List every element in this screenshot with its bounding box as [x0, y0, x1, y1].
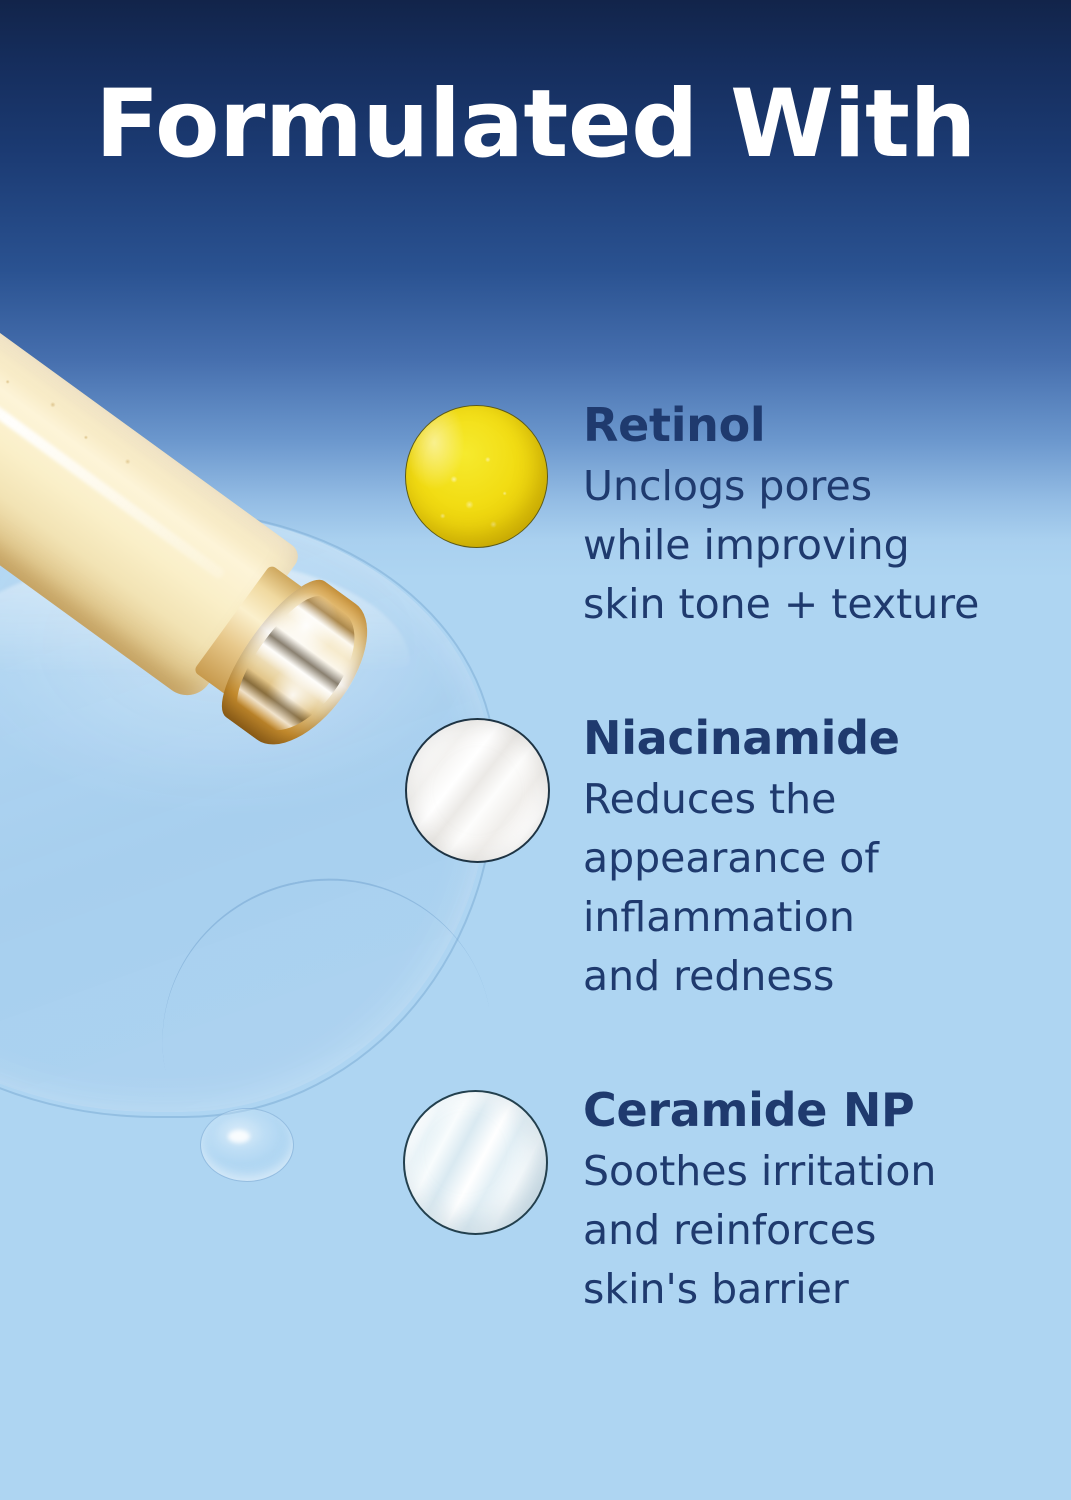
description-line: and redness	[583, 947, 1053, 1006]
ingredient-description-ceramide: Soothes irritation and reinforces skin's…	[583, 1142, 1053, 1319]
yellow-gel-swatch-icon	[405, 405, 548, 548]
water-droplet-glint	[228, 1130, 250, 1143]
description-line: Soothes irritation	[583, 1142, 1053, 1201]
ingredient-text-retinol: Retinol Unclogs pores while improving sk…	[583, 402, 1053, 634]
description-line: Reduces the	[583, 770, 1053, 829]
description-line: skin tone + texture	[583, 575, 1053, 634]
description-line: while improving	[583, 516, 1053, 575]
ingredient-text-ceramide: Ceramide NP Soothes irritation and reinf…	[583, 1087, 1053, 1319]
ingredient-name-ceramide: Ceramide NP	[583, 1087, 1053, 1133]
white-cream-swatch-icon	[405, 718, 550, 863]
ingredient-description-niacinamide: Reduces the appearance of inflammation a…	[583, 770, 1053, 1006]
description-line: skin's barrier	[583, 1260, 1053, 1319]
ingredient-description-retinol: Unclogs pores while improving skin tone …	[583, 457, 1053, 634]
water-droplet	[200, 1108, 294, 1182]
description-line: appearance of	[583, 829, 1053, 888]
ingredient-text-niacinamide: Niacinamide Reduces the appearance of in…	[583, 715, 1053, 1006]
description-line: and reinforces	[583, 1201, 1053, 1260]
page-title: Formulated With	[0, 76, 1071, 175]
description-line: Unclogs pores	[583, 457, 1053, 516]
ingredient-name-niacinamide: Niacinamide	[583, 715, 1053, 761]
ingredient-name-retinol: Retinol	[583, 402, 1053, 448]
description-line: inflammation	[583, 888, 1053, 947]
clear-gel-swatch-icon	[403, 1090, 548, 1235]
infographic-page: Formulated With Retinol Unclogs pores wh…	[0, 0, 1071, 1500]
